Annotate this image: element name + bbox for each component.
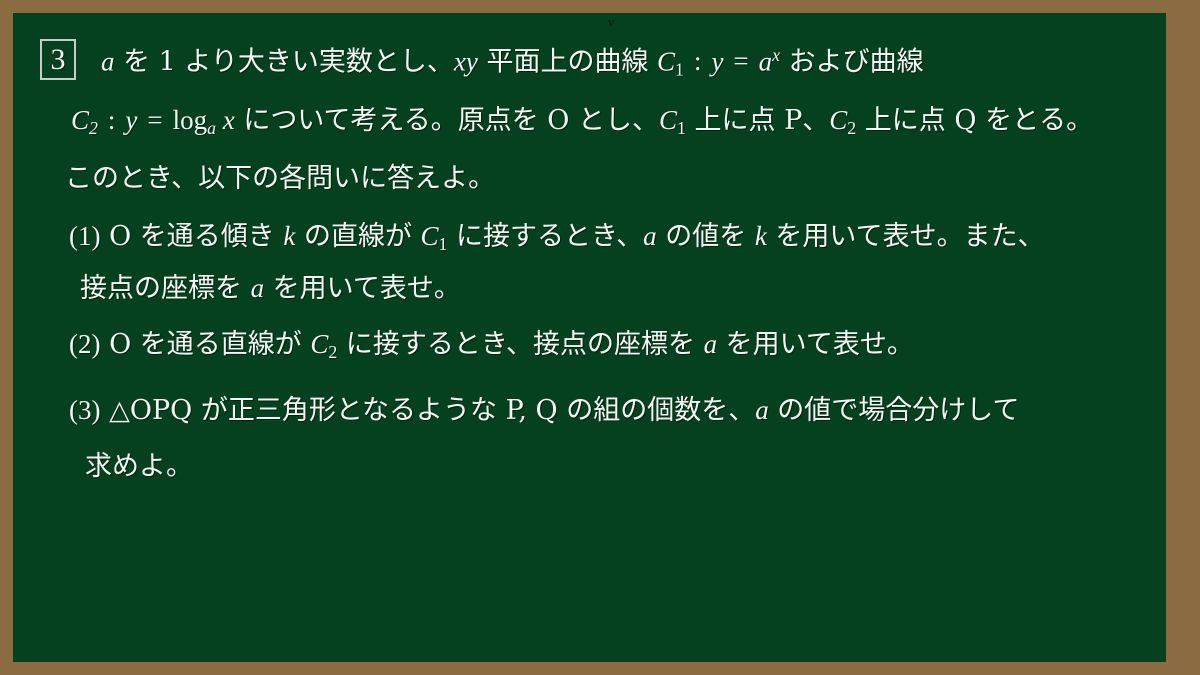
item-1-line-b-var-a: a (251, 273, 265, 303)
item-3-label: (3) (69, 395, 100, 425)
item-1-text-5: を用いて表せ。また、 (767, 221, 1045, 252)
item-3-text-1: △OPQ が正三角形となるような P, Q の組の個数を、 (100, 395, 755, 426)
curve-c1-symbol: C (657, 46, 675, 76)
item-2-line-a: (2) O を通る直線が C2 に接するとき、接点の座標を a を用いて表せ。 (69, 331, 914, 362)
item-2-label: (2) (69, 329, 100, 359)
log-base-a: a (207, 118, 216, 138)
curve-c1-ref: C (659, 105, 677, 135)
item-2-var-a: a (704, 329, 718, 359)
statement-line-1-text-2: 平面上の曲線 (478, 46, 657, 77)
curve-c1-subscript: 1 (675, 59, 684, 79)
var-k-1: k (283, 221, 295, 251)
problem-number-box: 3 (40, 39, 76, 80)
statement-line-2-text-2: 上に点 P、 (686, 105, 829, 136)
var-y-1: y (711, 46, 723, 76)
log-operator: log (173, 105, 208, 135)
log-argument-x: x (216, 105, 235, 135)
item-2-curve-c2: C (310, 329, 328, 359)
item-3-var-a: a (755, 395, 769, 425)
statement-line-2-text-1: について考える。原点を O とし、 (235, 105, 659, 136)
statement-line-3: このとき、以下の各問いに答えよ。 (65, 165, 495, 192)
colon-1: : (684, 46, 711, 76)
item-2-text-1: O を通る直線が (100, 329, 310, 360)
item-1-line-b-text-1: 接点の座標を (80, 273, 251, 304)
statement-line-2-text-3: 上に点 Q をとる。 (856, 105, 1093, 136)
item-1-var-a: a (643, 221, 657, 251)
var-a: a (101, 46, 115, 76)
curve-c2-ref: C (829, 105, 847, 135)
var-xy: xy (454, 46, 478, 76)
item-1-line-a: (1) O を通る傾き k の直線が C1 に接するとき、a の値を k を用い… (69, 223, 1045, 254)
statement-line-3-text: このとき、以下の各問いに答えよ。 (65, 163, 495, 194)
var-k-2: k (755, 221, 767, 251)
colon-2: : (98, 105, 125, 135)
statement-line-1-text-3: および曲線 (780, 46, 924, 77)
item-1-text-2: の直線が (295, 221, 420, 252)
item-2-text-3: を用いて表せ。 (717, 329, 914, 360)
item-1-line-b-text-2: を用いて表せ。 (264, 273, 461, 304)
exponent-x: x (772, 45, 780, 65)
item-1-label: (1) (69, 221, 100, 251)
equals-1: = (723, 46, 758, 76)
item-3-text-2: の値で場合分けして (769, 395, 1020, 426)
item-3-line-b-text: 求めよ。 (85, 451, 193, 482)
curve-c2-ref-subscript: 2 (847, 118, 856, 138)
statement-line-2: C2 : y = loga x について考える。原点を O とし、C1 上に点 … (71, 107, 1093, 138)
item-1-curve-c1: C (421, 221, 439, 251)
curve-c2-symbol: C (71, 105, 89, 135)
var-y-2: y (125, 105, 137, 135)
curve-c2-subscript: 2 (89, 118, 98, 138)
item-3-line-b: 求めよ。 (85, 453, 193, 480)
curve-c1-ref-subscript: 1 (677, 118, 686, 138)
item-3-line-a: (3) △OPQ が正三角形となるような P, Q の組の個数を、a の値で場合… (69, 397, 1019, 424)
statement-line-1-text-1: を 1 より大きい実数とし、 (115, 46, 454, 77)
equals-2: = (137, 105, 172, 135)
statement-line-1: a を 1 より大きい実数とし、xy 平面上の曲線 C1 : y = ax およ… (101, 47, 924, 79)
var-a-base: a (759, 46, 773, 76)
item-1-text-4: の値を (657, 221, 755, 252)
problem-number-label: 3 (51, 45, 66, 75)
item-2-text-2: に接するとき、接点の座標を (337, 329, 703, 360)
item-2-curve-c2-subscript: 2 (328, 342, 337, 362)
item-1-text-1: O を通る傾き (100, 221, 283, 252)
stray-mark-glyph: v (608, 15, 615, 28)
slide-frame: v 3 a を 1 より大きい実数とし、xy 平面上の曲線 C1 : y = a… (0, 0, 1200, 675)
chalkboard: v 3 a を 1 より大きい実数とし、xy 平面上の曲線 C1 : y = a… (13, 13, 1166, 662)
item-1-line-b: 接点の座標を a を用いて表せ。 (80, 275, 461, 302)
item-1-text-3: に接するとき、 (447, 221, 643, 252)
